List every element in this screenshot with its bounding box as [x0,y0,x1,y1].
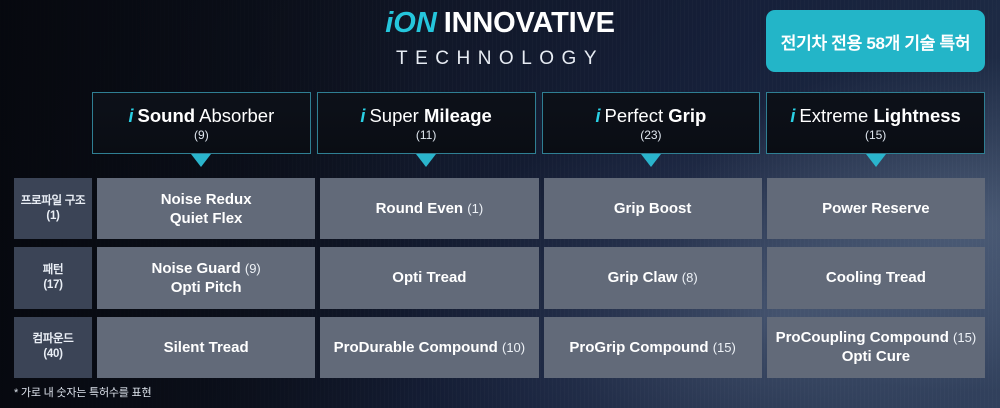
cell-line-2: Opti Pitch [171,278,242,297]
cell-text: Silent Tread [164,339,249,356]
cell-line-1: Power Reserve [822,199,930,218]
cell-line-1: ProCoupling Compound (15) [776,328,977,347]
matrix-cell[interactable]: Noise Guard (9) Opti Pitch [97,247,315,308]
cell-text: ProCoupling Compound [776,329,949,346]
cell-text: ProDurable Compound [334,339,498,356]
category-word-a: Perfect [604,105,663,126]
cell-number: (1) [467,201,483,216]
category-count: (9) [194,128,209,143]
table-row: 프로파일 구조 (1) Noise Redux Quiet Flex Round… [14,178,985,239]
table-row: 컴파운드 (40) Silent Tread ProDurable Compou… [14,317,985,378]
category-word-a: Super [369,105,418,126]
cell-line-1: Opti Tread [392,268,466,287]
slide-canvas: iONINNOVATIVE TECHNOLOGY 전기차 전용 58개 기술 특… [0,0,1000,408]
cell-line-1: Noise Guard (9) [152,259,261,278]
category-word-b: Mileage [424,105,492,126]
cell-number: (15) [713,340,736,355]
cell-line-1: Noise Redux [161,190,252,209]
cell-text: Opti Tread [392,269,466,286]
matrix-cell[interactable]: ProCoupling Compound (15) Opti Cure [767,317,985,378]
row-label-name: 프로파일 구조 [21,194,86,209]
cell-line-2: Opti Cure [842,347,910,366]
matrix-cell[interactable]: ProGrip Compound (15) [544,317,762,378]
cell-text: Noise Redux [161,191,252,208]
cell-line-1: Silent Tread [164,338,249,357]
cell-text: Round Even [376,200,464,217]
cell-text: Quiet Flex [170,210,243,227]
row-label-compound: 컴파운드 (40) [14,317,92,378]
row-cells: Silent Tread ProDurable Compound (10) Pr… [97,317,985,378]
cell-text: Opti Cure [842,348,910,365]
footnote: * 가로 내 숫자는 특허수를 표현 [14,384,151,400]
category-count: (11) [416,128,436,143]
row-label-profile-structure: 프로파일 구조 (1) [14,178,92,239]
row-label-pattern: 패턴 (17) [14,247,92,308]
cell-number: (8) [682,270,698,285]
logo-innovative-word: INNOVATIVE [444,7,615,39]
cell-text: Opti Pitch [171,279,242,296]
cell-text: Noise Guard [152,260,241,277]
category-word-a: Sound [138,105,196,126]
matrix-cell[interactable]: Round Even (1) [320,178,538,239]
cell-line-1: Grip Boost [614,199,692,218]
matrix-cell[interactable]: Grip Boost [544,178,762,239]
category-header-title: iSuper Mileage [360,105,491,127]
cell-number: (15) [953,330,976,345]
i-mark-icon: i [595,106,600,126]
cell-text: Power Reserve [822,200,930,217]
row-label-count: (1) [46,209,59,224]
down-arrow-icon [191,154,211,167]
category-header-perfect-grip[interactable]: iPerfect Grip (23) [542,92,761,154]
cell-number: (10) [502,340,525,355]
cell-line-2: Quiet Flex [170,209,243,228]
cell-line-1: ProDurable Compound (10) [334,338,525,357]
row-cells: Noise Guard (9) Opti Pitch Opti Tread Gr… [97,247,985,308]
category-count: (23) [640,128,661,143]
down-arrow-icon [416,154,436,167]
category-header-extreme-lightness[interactable]: iExtreme Lightness (15) [766,92,985,154]
technology-matrix: 프로파일 구조 (1) Noise Redux Quiet Flex Round… [14,178,985,378]
category-word-b: Lightness [873,105,960,126]
cell-text: Grip Claw [608,269,678,286]
category-word-b: Grip [668,105,706,126]
i-mark-icon: i [360,106,365,126]
table-row: 패턴 (17) Noise Guard (9) Opti Pitch Opti … [14,247,985,308]
cell-line-1: Round Even (1) [376,199,484,218]
cell-number: (9) [245,261,261,276]
row-cells: Noise Redux Quiet Flex Round Even (1) Gr… [97,178,985,239]
matrix-cell[interactable]: Cooling Tread [767,247,985,308]
matrix-cell[interactable]: Silent Tread [97,317,315,378]
down-arrow-icon [641,154,661,167]
cell-text: Grip Boost [614,200,692,217]
cell-line-1: ProGrip Compound (15) [569,338,735,357]
category-word-a: Extreme [799,105,868,126]
category-header-row: iSound Absorber (9) iSuper Mileage (11) … [92,92,985,154]
patent-count-badge-label: 전기차 전용 58개 기술 특허 [781,29,970,54]
row-label-name: 컴파운드 [32,332,73,347]
category-count: (15) [865,128,886,143]
matrix-cell[interactable]: Power Reserve [767,178,985,239]
category-header-title: iPerfect Grip [595,105,706,127]
i-mark-icon: i [790,106,795,126]
down-arrow-icon [866,154,886,167]
cell-line-1: Grip Claw (8) [608,268,698,287]
logo-ion-mark: iON [385,7,437,39]
category-header-title: iExtreme Lightness [790,105,960,127]
category-word-b: Absorber [199,105,274,126]
matrix-cell[interactable]: ProDurable Compound (10) [320,317,538,378]
cell-line-1: Cooling Tread [826,268,926,287]
cell-text: Cooling Tread [826,269,926,286]
row-label-count: (40) [43,347,62,362]
cell-text: ProGrip Compound [569,339,708,356]
category-header-title: iSound Absorber [128,105,274,127]
matrix-cell[interactable]: Grip Claw (8) [544,247,762,308]
row-label-name: 패턴 [43,263,64,278]
row-label-count: (17) [43,278,62,293]
matrix-cell[interactable]: Opti Tread [320,247,538,308]
category-header-sound-absorber[interactable]: iSound Absorber (9) [92,92,311,154]
matrix-cell[interactable]: Noise Redux Quiet Flex [97,178,315,239]
patent-count-badge: 전기차 전용 58개 기술 특허 [766,10,985,72]
category-header-super-mileage[interactable]: iSuper Mileage (11) [317,92,536,154]
i-mark-icon: i [128,106,133,126]
